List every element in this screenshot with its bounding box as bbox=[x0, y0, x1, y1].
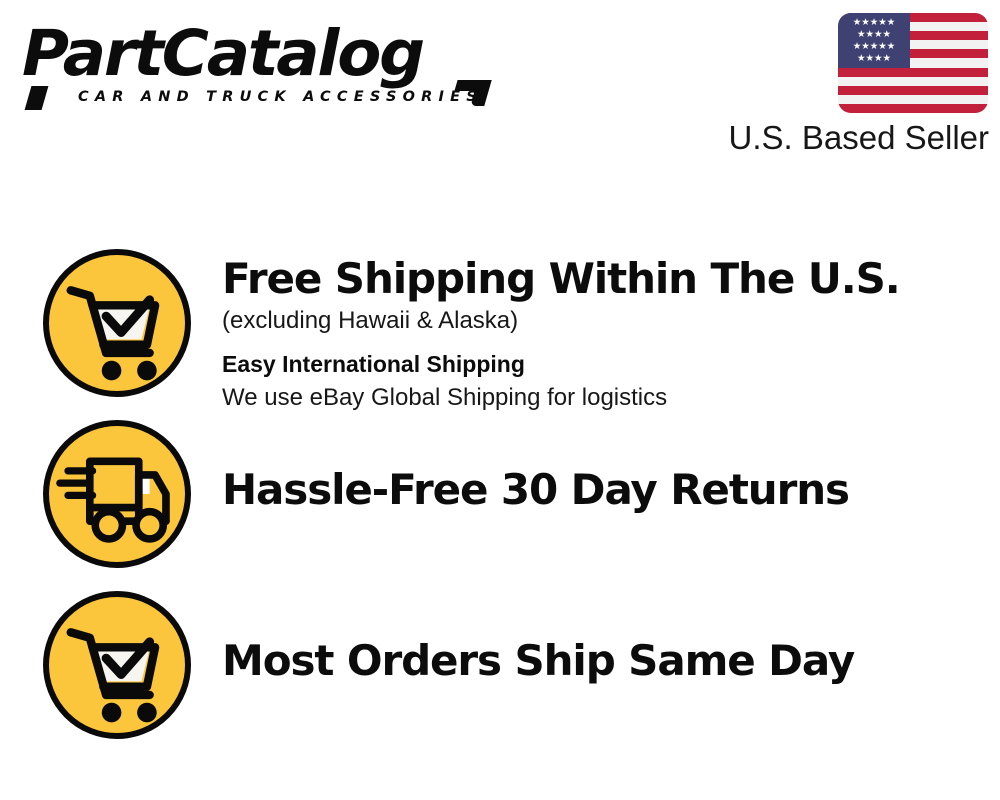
benefit-title: Most Orders Ship Same Day bbox=[222, 636, 982, 686]
icon-circle bbox=[43, 420, 191, 568]
benefits-list: Free Shipping Within The U.S. (excluding… bbox=[0, 243, 1000, 756]
logo-swash-left-icon bbox=[25, 86, 49, 110]
brand-tagline-row: CAR AND TRUCK ACCESSORIES bbox=[26, 86, 492, 110]
flag-star-row: ★★★★★ bbox=[838, 42, 910, 52]
delivery-truck-icon bbox=[49, 426, 185, 562]
flag-stripe bbox=[838, 86, 988, 95]
us-based-seller-label: U.S. Based Seller bbox=[727, 119, 989, 157]
benefit-title: Free Shipping Within The U.S. bbox=[222, 254, 982, 304]
brand-tagline: CAR AND TRUCK ACCESSORIES bbox=[78, 89, 483, 105]
us-flag-icon: ★★★★★ ★★★★ ★★★★★ ★★★★ bbox=[838, 13, 988, 113]
brand-logo: PartCatalog CAR AND TRUCK ACCESSORIES bbox=[22, 22, 492, 112]
benefit-row: Hassle-Free 30 Day Returns bbox=[0, 414, 1000, 585]
benefit-note: (excluding Hawaii & Alaska) bbox=[222, 304, 982, 338]
icon-circle bbox=[43, 591, 191, 739]
benefit-text-block: Most Orders Ship Same Day bbox=[222, 636, 982, 686]
flag-star-row: ★★★★ bbox=[838, 30, 910, 40]
benefit-icon-same-day bbox=[43, 591, 191, 739]
flag-star-row: ★★★★ bbox=[838, 54, 910, 64]
flag-stripe bbox=[838, 68, 988, 77]
flag-star-row: ★★★★★ bbox=[838, 18, 910, 28]
benefit-sub-text: We use eBay Global Shipping for logistic… bbox=[222, 381, 982, 415]
benefit-text-block: Hassle-Free 30 Day Returns bbox=[222, 465, 982, 515]
benefit-icon-returns bbox=[43, 420, 191, 568]
brand-wordmark: PartCatalog bbox=[22, 22, 501, 86]
benefit-text-block: Free Shipping Within The U.S. (excluding… bbox=[222, 254, 982, 415]
flag-canton: ★★★★★ ★★★★ ★★★★★ ★★★★ bbox=[838, 13, 910, 68]
flag-stripe bbox=[838, 77, 988, 86]
benefit-sub-heading: Easy International Shipping bbox=[222, 347, 982, 381]
benefit-icon-free-shipping bbox=[43, 249, 191, 397]
shopping-cart-check-icon bbox=[49, 597, 185, 733]
benefit-row: Most Orders Ship Same Day bbox=[0, 585, 1000, 756]
icon-circle bbox=[43, 249, 191, 397]
banner-header: PartCatalog CAR AND TRUCK ACCESSORIES ★★… bbox=[0, 0, 1000, 175]
shopping-cart-check-icon bbox=[49, 255, 185, 391]
flag-stripe bbox=[838, 95, 988, 104]
spacer bbox=[222, 338, 982, 347]
flag-stripe bbox=[838, 104, 988, 113]
benefit-row: Free Shipping Within The U.S. (excluding… bbox=[0, 243, 1000, 414]
benefit-title: Hassle-Free 30 Day Returns bbox=[222, 465, 982, 515]
